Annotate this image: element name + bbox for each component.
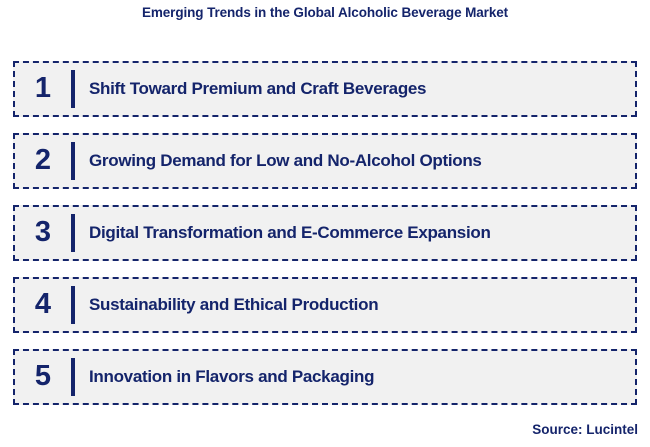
- list-item[interactable]: 5 Innovation in Flavors and Packaging: [13, 349, 637, 405]
- trend-rank-number: 4: [15, 290, 71, 321]
- trend-label: Growing Demand for Low and No-Alcohol Op…: [75, 151, 635, 171]
- trend-label: Sustainability and Ethical Production: [75, 295, 635, 315]
- list-item[interactable]: 1 Shift Toward Premium and Craft Beverag…: [13, 61, 637, 117]
- infographic-page: Emerging Trends in the Global Alcoholic …: [0, 0, 650, 447]
- trend-list: 1 Shift Toward Premium and Craft Beverag…: [13, 61, 637, 405]
- trend-rank-number: 2: [15, 146, 71, 177]
- trend-label: Digital Transformation and E-Commerce Ex…: [75, 223, 635, 243]
- trend-rank-number: 1: [15, 74, 71, 105]
- page-title: Emerging Trends in the Global Alcoholic …: [0, 5, 650, 20]
- list-item[interactable]: 2 Growing Demand for Low and No-Alcohol …: [13, 133, 637, 189]
- list-item[interactable]: 3 Digital Transformation and E-Commerce …: [13, 205, 637, 261]
- trend-label: Shift Toward Premium and Craft Beverages: [75, 79, 635, 99]
- trend-rank-number: 3: [15, 218, 71, 249]
- trend-rank-number: 5: [15, 362, 71, 393]
- list-item[interactable]: 4 Sustainability and Ethical Production: [13, 277, 637, 333]
- source-attribution: Source: Lucintel: [532, 422, 638, 437]
- trend-label: Innovation in Flavors and Packaging: [75, 367, 635, 387]
